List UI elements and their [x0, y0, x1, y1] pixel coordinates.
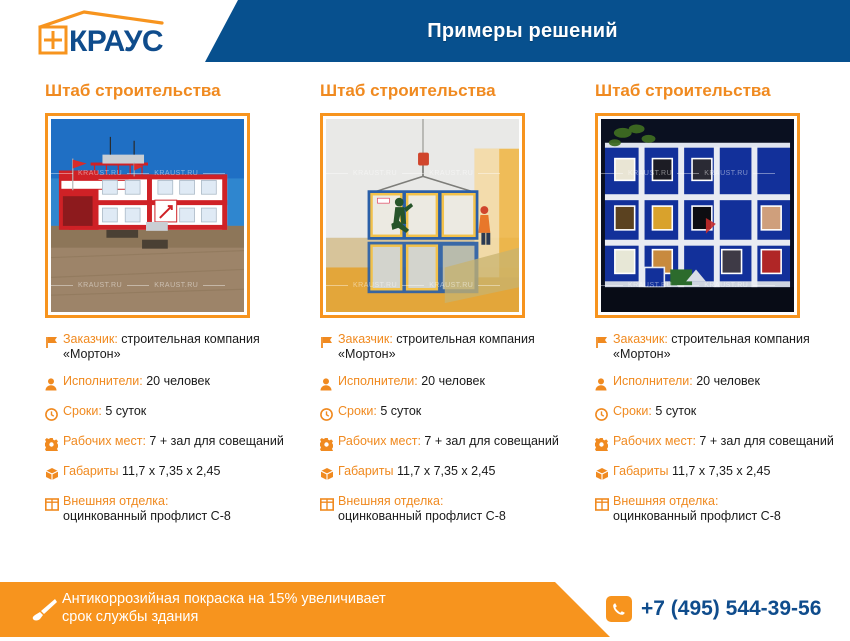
spec-list: Заказчик: строительная компания «Мортон»…: [595, 332, 850, 524]
solution-column-2: Штаб строительства: [320, 62, 595, 536]
spec-row-customer: Заказчик: строительная компания «Мортон»: [320, 332, 580, 362]
photo-frame[interactable]: KRAUST.RU KRAUST.RU KRAUST.RU KRAUST.RU: [595, 113, 800, 318]
spec-value: 20 человек: [146, 374, 210, 388]
box-icon: [595, 466, 613, 482]
person-icon: [45, 376, 63, 392]
spec-value: 11,7 x 7,35 x 2,45: [397, 464, 495, 478]
spec-label: Исполнители:: [63, 374, 143, 388]
photo-art: [326, 119, 519, 312]
spec-row-workers: Исполнители: 20 человек: [45, 374, 305, 392]
gear-icon: [45, 436, 63, 452]
window-icon: [595, 496, 613, 512]
spec-label: Сроки:: [613, 404, 652, 418]
phone-icon: [606, 596, 632, 622]
column-title: Штаб строительства: [595, 62, 850, 104]
spec-label: Исполнители:: [613, 374, 693, 388]
svg-text:КРАУС: КРАУС: [69, 25, 163, 55]
spec-label: Рабочих мест:: [613, 434, 696, 448]
photo-art: [51, 119, 244, 312]
spec-label: Внешняя отделка:: [338, 494, 443, 508]
footer-slogan: Антикоррозийная покраска на 15% увеличив…: [62, 590, 532, 626]
spec-label: Сроки:: [338, 404, 377, 418]
spec-label: Заказчик:: [63, 332, 118, 346]
window-icon: [45, 496, 63, 512]
paintbrush-icon: [28, 596, 58, 626]
phone-number: +7 (495) 544-39-56: [641, 597, 821, 621]
spec-row-dimensions: Габариты 11,7 x 7,35 x 2,45: [595, 464, 850, 482]
spec-value: 7 + зал для совещаний: [699, 434, 833, 448]
spec-value: оцинкованный профлист С-8: [613, 509, 781, 523]
footer: Антикоррозийная покраска на 15% увеличив…: [0, 578, 850, 641]
flag-icon: [595, 334, 613, 350]
spec-value: 11,7 x 7,35 x 2,45: [672, 464, 770, 478]
house-plus-logo-icon: КРАУС: [36, 9, 186, 55]
photo-frame[interactable]: KRAUST.RU KRAUST.RU KRAUST.RU KRAUST.RU: [45, 113, 250, 318]
spec-row-duration: Сроки: 5 суток: [45, 404, 305, 422]
slide-root: Примеры решений КРАУС Штаб строительства: [0, 0, 850, 641]
spec-row-dimensions: Габариты 11,7 x 7,35 x 2,45: [45, 464, 305, 482]
spec-value: оцинкованный профлист С-8: [63, 509, 231, 523]
clock-icon: [45, 406, 63, 422]
photo-frame[interactable]: KRAUST.RU KRAUST.RU KRAUST.RU KRAUST.RU: [320, 113, 525, 318]
spec-value: 7 + зал для совещаний: [149, 434, 283, 448]
gear-icon: [595, 436, 613, 452]
solution-column-3: Штаб строительства: [595, 62, 850, 536]
photo-crane-lifting-modules: KRAUST.RU KRAUST.RU KRAUST.RU KRAUST.RU: [326, 119, 519, 312]
column-title: Штаб строительства: [45, 62, 320, 104]
solutions-columns: Штаб строительства: [0, 62, 850, 575]
spec-row-dimensions: Габариты 11,7 x 7,35 x 2,45: [320, 464, 580, 482]
spec-value: 5 суток: [655, 404, 696, 418]
clock-icon: [320, 406, 338, 422]
spec-label: Габариты: [613, 464, 669, 478]
spec-label: Рабочих мест:: [338, 434, 421, 448]
person-icon: [595, 376, 613, 392]
spec-row-workplaces: Рабочих мест: 7 + зал для совещаний: [45, 434, 305, 452]
spec-row-workers: Исполнители: 20 человек: [595, 374, 850, 392]
photo-blue-building-night: KRAUST.RU KRAUST.RU KRAUST.RU KRAUST.RU: [601, 119, 794, 312]
box-icon: [45, 466, 63, 482]
spec-label: Габариты: [63, 464, 119, 478]
spec-label: Сроки:: [63, 404, 102, 418]
spec-label: Внешняя отделка:: [63, 494, 168, 508]
window-icon: [320, 496, 338, 512]
spec-value: 7 + зал для совещаний: [424, 434, 558, 448]
spec-value: 11,7 x 7,35 x 2,45: [122, 464, 220, 478]
spec-label: Заказчик:: [613, 332, 668, 346]
spec-row-finish: Внешняя отделка: оцинкованный профлист С…: [320, 494, 580, 524]
spec-row-workplaces: Рабочих мест: 7 + зал для совещаний: [595, 434, 850, 452]
column-title: Штаб строительства: [320, 62, 595, 104]
spec-row-finish: Внешняя отделка: оцинкованный профлист С…: [595, 494, 850, 524]
solution-column-1: Штаб строительства: [45, 62, 320, 536]
footer-slogan-line1: Антикоррозийная покраска на 15% увеличив…: [62, 590, 532, 608]
flag-icon: [320, 334, 338, 350]
spec-label: Заказчик:: [338, 332, 393, 346]
person-icon: [320, 376, 338, 392]
spec-value: оцинкованный профлист С-8: [338, 509, 506, 523]
clock-icon: [595, 406, 613, 422]
spec-row-customer: Заказчик: строительная компания «Мортон»: [595, 332, 850, 362]
spec-row-finish: Внешняя отделка: оцинкованный профлист С…: [45, 494, 305, 524]
page-title: Примеры решений: [195, 0, 850, 62]
spec-label: Габариты: [338, 464, 394, 478]
photo-art: [601, 119, 794, 312]
spec-row-customer: Заказчик: строительная компания «Мортон»: [45, 332, 305, 362]
spec-row-workplaces: Рабочих мест: 7 + зал для совещаний: [320, 434, 580, 452]
contact-phone[interactable]: +7 (495) 544-39-56: [606, 590, 821, 628]
box-icon: [320, 466, 338, 482]
header: Примеры решений КРАУС: [0, 0, 850, 62]
spec-row-duration: Сроки: 5 суток: [320, 404, 580, 422]
spec-value: 5 суток: [105, 404, 146, 418]
spec-label: Внешняя отделка:: [613, 494, 718, 508]
photo-red-white-modular-building: KRAUST.RU KRAUST.RU KRAUST.RU KRAUST.RU: [51, 119, 244, 312]
footer-slogan-line2: срок службы здания: [62, 608, 532, 626]
spec-list: Заказчик: строительная компания «Мортон»…: [45, 332, 305, 524]
gear-icon: [320, 436, 338, 452]
spec-label: Исполнители:: [338, 374, 418, 388]
spec-row-duration: Сроки: 5 суток: [595, 404, 850, 422]
spec-label: Рабочих мест:: [63, 434, 146, 448]
spec-value: 20 человек: [421, 374, 485, 388]
flag-icon: [45, 334, 63, 350]
company-logo[interactable]: КРАУС: [36, 9, 186, 55]
spec-value: 20 человек: [696, 374, 760, 388]
spec-list: Заказчик: строительная компания «Мортон»…: [320, 332, 580, 524]
spec-row-workers: Исполнители: 20 человек: [320, 374, 580, 392]
spec-value: 5 суток: [380, 404, 421, 418]
